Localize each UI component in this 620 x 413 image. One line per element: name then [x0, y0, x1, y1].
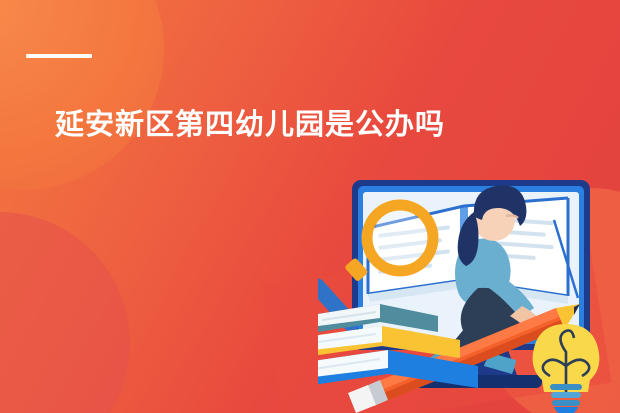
page-title: 延安新区第四幼儿园是公办吗 [55, 108, 575, 143]
banner: 延安新区第四幼儿园是公办吗 [0, 0, 620, 413]
accent-rule [26, 54, 92, 58]
lightbulb-icon [533, 324, 600, 413]
study-search-illustration [318, 176, 620, 413]
